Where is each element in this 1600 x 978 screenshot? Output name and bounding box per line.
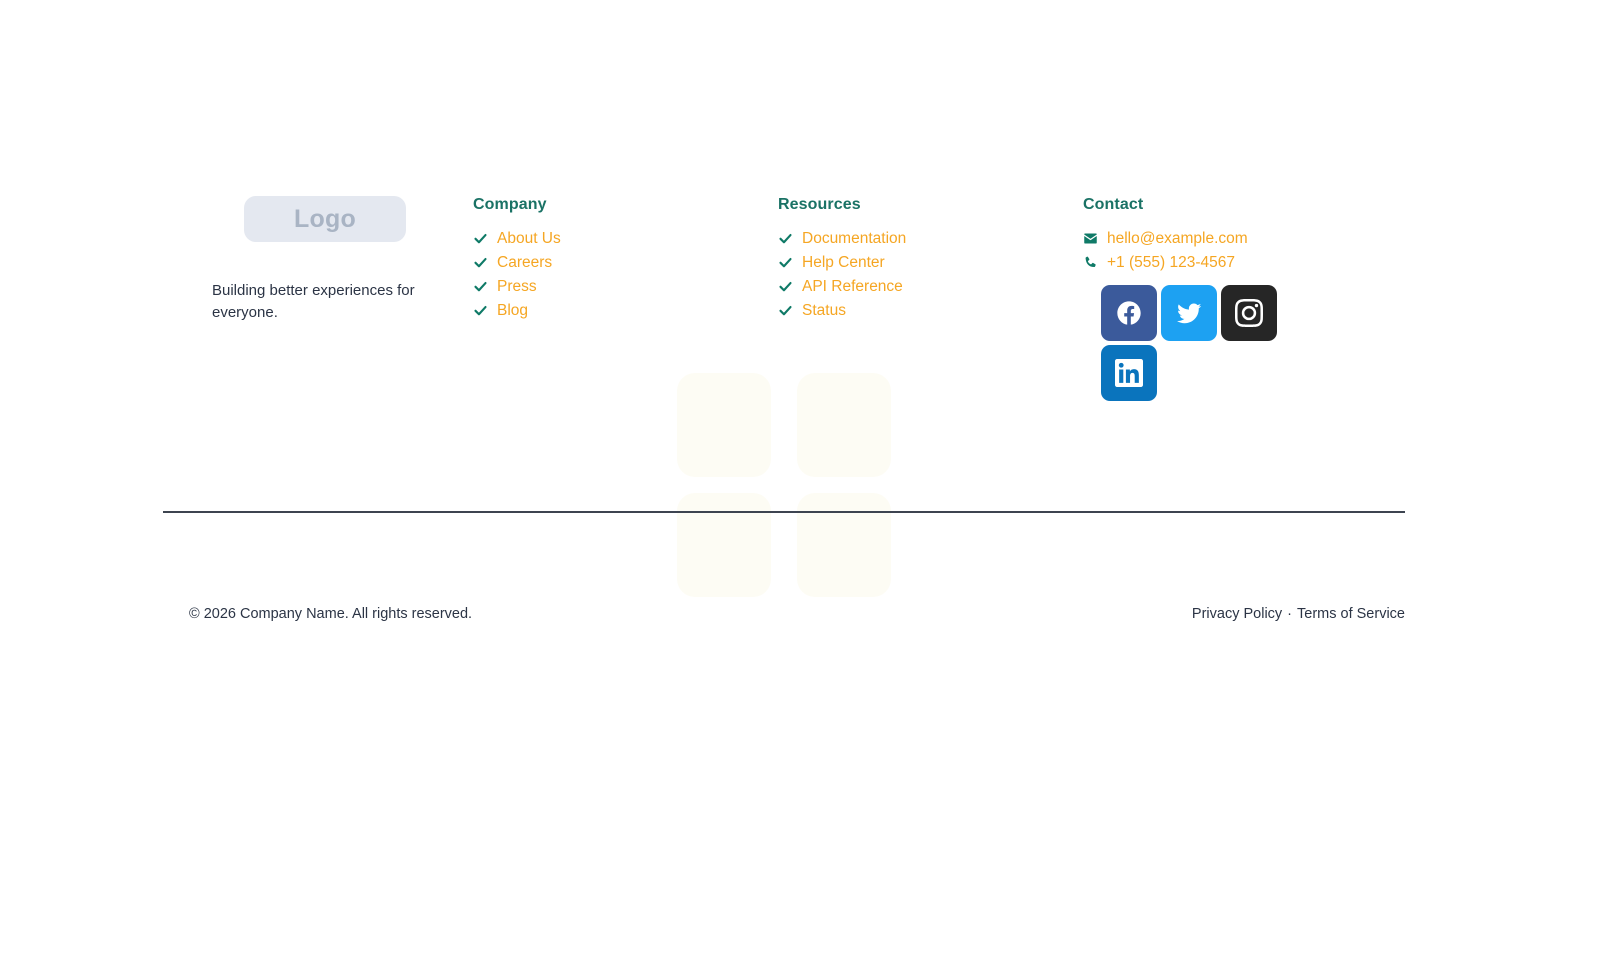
check-icon: [778, 231, 793, 246]
list-item[interactable]: About Us: [473, 228, 778, 249]
footer-bottom-bar: © 2026 Company Name. All rights reserved…: [163, 606, 1405, 622]
link-label: Press: [497, 278, 537, 296]
link-label: Careers: [497, 254, 552, 272]
list-item[interactable]: Careers: [473, 252, 778, 273]
check-icon: [473, 231, 488, 246]
check-icon: [778, 255, 793, 270]
footer-column-resources: Resources Documentation Help Center API …: [778, 196, 1083, 324]
envelope-icon: [1083, 231, 1098, 246]
decorative-square: [677, 493, 771, 597]
footer-column-contact: Contact hello@example.com +1 (555) 123-4…: [1083, 196, 1405, 401]
check-icon: [473, 279, 488, 294]
contact-email-item[interactable]: hello@example.com: [1083, 228, 1405, 249]
link-label: Blog: [497, 302, 528, 320]
contact-phone-item[interactable]: +1 (555) 123-4567: [1083, 252, 1405, 273]
contact-email-label: hello@example.com: [1107, 230, 1248, 248]
footer-main: Logo Building better experiences for eve…: [163, 196, 1405, 401]
list-item[interactable]: Status: [778, 300, 1083, 321]
list-item[interactable]: Press: [473, 276, 778, 297]
decorative-background: [0, 0, 1600, 978]
brand-tagline: Building better experiences for everyone…: [212, 280, 427, 324]
social-link-linkedin[interactable]: [1101, 345, 1157, 401]
legal-links: Privacy Policy · Terms of Service: [1192, 606, 1405, 622]
logo-placeholder[interactable]: Logo: [244, 196, 406, 242]
legal-separator: ·: [1287, 606, 1292, 622]
contact-phone-label: +1 (555) 123-4567: [1107, 254, 1235, 272]
linkedin-icon: [1115, 359, 1143, 387]
instagram-icon: [1235, 299, 1263, 327]
social-links: [1101, 285, 1277, 401]
check-icon: [473, 303, 488, 318]
twitter-icon: [1175, 299, 1203, 327]
link-label: API Reference: [802, 278, 903, 296]
social-link-facebook[interactable]: [1101, 285, 1157, 341]
footer-column-company: Company About Us Careers Press Blog: [473, 196, 778, 324]
link-label: Status: [802, 302, 846, 320]
list-item[interactable]: Help Center: [778, 252, 1083, 273]
terms-of-service-link[interactable]: Terms of Service: [1297, 606, 1405, 622]
check-icon: [473, 255, 488, 270]
footer-brand-column: Logo Building better experiences for eve…: [163, 196, 473, 324]
facebook-icon: [1115, 299, 1143, 327]
check-icon: [778, 303, 793, 318]
link-label: Documentation: [802, 230, 906, 248]
contact-list: hello@example.com +1 (555) 123-4567: [1083, 228, 1405, 273]
link-label: About Us: [497, 230, 561, 248]
column-heading-contact: Contact: [1083, 196, 1405, 214]
list-item[interactable]: Blog: [473, 300, 778, 321]
check-icon: [778, 279, 793, 294]
social-link-instagram[interactable]: [1221, 285, 1277, 341]
column-heading-company: Company: [473, 196, 778, 214]
list-item[interactable]: Documentation: [778, 228, 1083, 249]
company-link-list: About Us Careers Press Blog: [473, 228, 778, 321]
copyright-text: © 2026 Company Name. All rights reserved…: [189, 606, 472, 622]
logo-label: Logo: [294, 205, 356, 234]
list-item[interactable]: API Reference: [778, 276, 1083, 297]
privacy-policy-link[interactable]: Privacy Policy: [1192, 606, 1282, 622]
resources-link-list: Documentation Help Center API Reference …: [778, 228, 1083, 321]
social-link-twitter[interactable]: [1161, 285, 1217, 341]
footer-divider: [163, 511, 1405, 513]
link-label: Help Center: [802, 254, 885, 272]
column-heading-resources: Resources: [778, 196, 1083, 214]
page-root: Logo Building better experiences for eve…: [0, 0, 1600, 978]
phone-icon: [1083, 255, 1098, 270]
decorative-square: [797, 493, 891, 597]
